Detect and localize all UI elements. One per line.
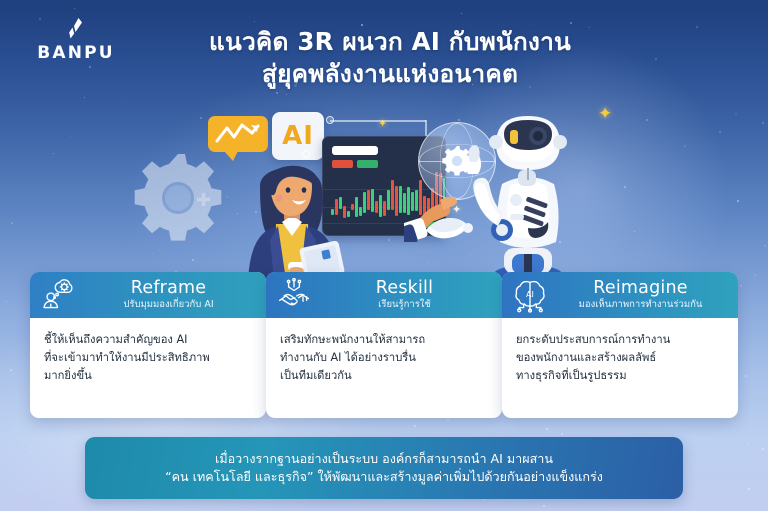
sparkle-icon: ✦	[598, 106, 612, 123]
svg-text:AI: AI	[526, 289, 534, 299]
banpu-leaf-mark-icon	[22, 16, 130, 42]
card-reskill-body-line-3: เป็นทีมเดียวกัน	[280, 367, 488, 385]
card-reimagine-body: ยกระดับประสบการณ์การทำงาน ของพนักงานและส…	[502, 318, 738, 395]
infographic-poster: BANPU แนวคิด 3R ผนวก AI กับพนักงาน สู่ยุ…	[0, 0, 768, 511]
card-reimagine-subtitle: มองเห็นภาพการทำงานร่วมกัน	[557, 299, 724, 311]
hero-illustration: ✚ ✦ ✦ ✦ ✦ AI	[0, 100, 768, 280]
plus-decoration-icon: ✚	[196, 192, 211, 210]
person-thought-gears-icon	[40, 277, 76, 313]
card-reskill-header: Reskill เรียนรู้การใช้	[266, 272, 502, 318]
card-reframe-title: Reframe	[85, 278, 252, 298]
card-reskill-subtitle: เรียนรู้การใช้	[321, 299, 488, 311]
summary-banner-line-1: เมื่อวางรากฐานอย่างเป็นระบบ องค์กรก็สามา…	[215, 450, 553, 468]
card-reframe-body: ชี้ให้เห็นถึงความสำคัญของ AI ที่จะเข้ามา…	[30, 318, 266, 395]
three-r-cards: Reframe ปรับมุมมองเกี่ยวกับ AI ชี้ให้เห็…	[0, 272, 768, 420]
card-reframe-titles: Reframe ปรับมุมมองเกี่ยวกับ AI	[85, 278, 256, 311]
summary-banner-line-2: “คน เทคโนโลยี และธุรกิจ” ให้พัฒนาและสร้า…	[165, 468, 603, 486]
title-line-2: สู่ยุคพลังงานแห่งอนาคต	[140, 58, 640, 90]
card-reskill-body: เสริมทักษะพนักงานให้สามารถ ทำงานกับ AI ไ…	[266, 318, 502, 395]
card-reskill-body-line-1: เสริมทักษะพนักงานให้สามารถ	[280, 331, 488, 349]
card-reframe-body-line-2: ที่จะเข้ามาทำให้งานมีประสิทธิภาพ	[44, 349, 252, 367]
businesswoman-illustration	[226, 144, 356, 280]
panel-buy-chip	[357, 160, 378, 168]
title-line-1: แนวคิด 3R ผนวก AI กับพนักงาน	[140, 26, 640, 58]
ai-robot-illustration	[466, 108, 586, 280]
card-reimagine-body-line-2: ของพนักงานและสร้างผลลัพธ์	[516, 349, 724, 367]
card-reframe-body-line-1: ชี้ให้เห็นถึงความสำคัญของ AI	[44, 331, 252, 349]
card-reimagine-body-line-3: ทางธุรกิจที่เป็นรูปธรรม	[516, 367, 724, 385]
card-reskill[interactable]: Reskill เรียนรู้การใช้ เสริมทักษะพนักงาน…	[266, 272, 502, 418]
card-reimagine-header: AI Reimagine มองเห็นภาพการทำงานร่วมกัน	[502, 272, 738, 318]
card-reimagine-body-line-1: ยกระดับประสบการณ์การทำงาน	[516, 331, 724, 349]
page-title: แนวคิด 3R ผนวก AI กับพนักงาน สู่ยุคพลังง…	[140, 26, 640, 90]
card-reskill-titles: Reskill เรียนรู้การใช้	[321, 278, 492, 311]
card-reframe-subtitle: ปรับมุมมองเกี่ยวกับ AI	[85, 299, 252, 311]
card-reskill-body-line-2: ทำงานกับ AI ได้อย่างราบรื่น	[280, 349, 488, 367]
robot-open-hand-illustration	[422, 208, 480, 252]
card-reimagine[interactable]: AI Reimagine มองเห็นภาพการทำงานร่วมกัน ย…	[502, 272, 738, 418]
gear-icon	[128, 148, 228, 248]
card-reimagine-title: Reimagine	[557, 278, 724, 298]
human-robot-handshake-icon	[276, 277, 312, 313]
card-reframe-body-line-3: มากยิ่งขึ้น	[44, 367, 252, 385]
card-reframe-header: Reframe ปรับมุมมองเกี่ยวกับ AI	[30, 272, 266, 318]
card-reframe[interactable]: Reframe ปรับมุมมองเกี่ยวกับ AI ชี้ให้เห็…	[30, 272, 266, 418]
card-reskill-title: Reskill	[321, 278, 488, 298]
ai-brain-circuit-icon: AI	[512, 277, 548, 313]
banpu-wordmark: BANPU	[22, 43, 130, 63]
connector-line	[425, 120, 427, 136]
banpu-logo: BANPU	[22, 16, 130, 63]
connector-node	[326, 116, 334, 124]
card-reimagine-titles: Reimagine มองเห็นภาพการทำงานร่วมกัน	[557, 278, 728, 311]
summary-banner: เมื่อวางรากฐานอย่างเป็นระบบ องค์กรก็สามา…	[85, 437, 683, 499]
connector-line	[330, 120, 426, 122]
